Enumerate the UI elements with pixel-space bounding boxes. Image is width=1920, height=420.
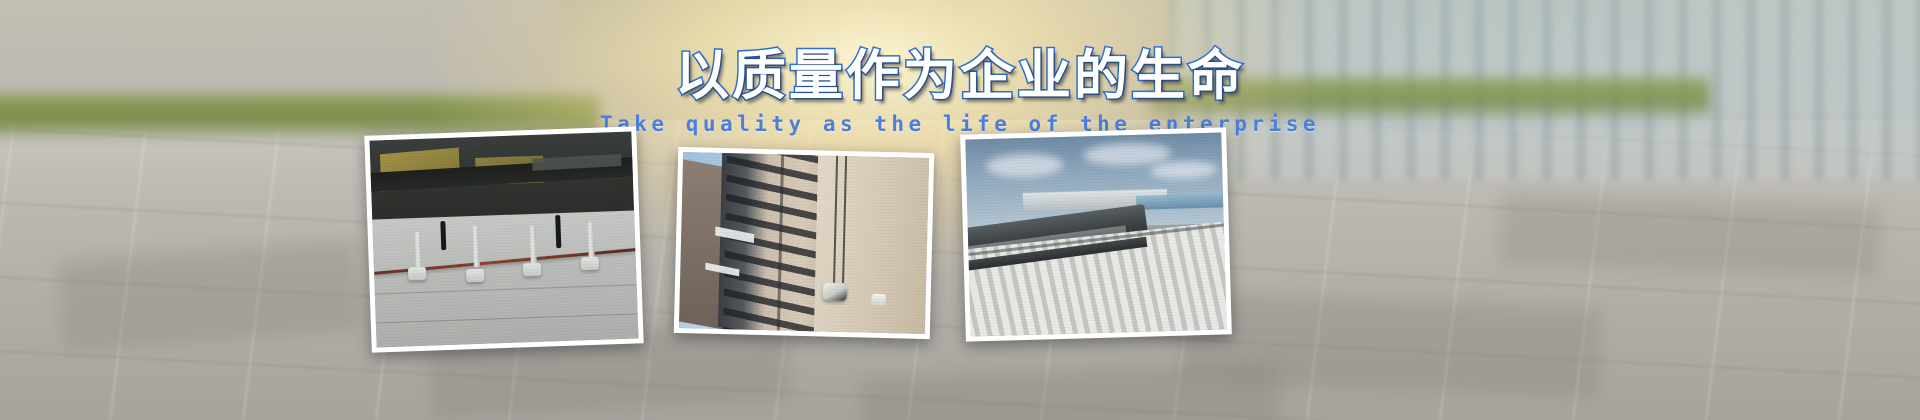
photo1-support-base (466, 269, 484, 283)
photo2-window-rows (723, 152, 826, 334)
photo-metal-roof (965, 132, 1226, 336)
photo-facade-rope-access (679, 152, 929, 334)
photo-roof-deck (369, 131, 638, 347)
photo1-pipe-post (415, 232, 422, 269)
photo2-paint-bucket (871, 294, 885, 306)
photo3-distant-roofs (1136, 194, 1223, 210)
photo1-support-base (408, 267, 426, 281)
project-photo-gallery (0, 0, 1920, 420)
photo2-painted-wall (814, 152, 929, 334)
project-photo-card-1[interactable] (364, 126, 643, 352)
photo1-support-base (581, 257, 599, 271)
project-photo-card-3[interactable] (960, 127, 1232, 341)
hero-banner: 以质量作为企业的生命 Take quality as the life of t… (0, 0, 1920, 420)
project-photo-card-2[interactable] (674, 147, 934, 339)
photo2-worker (822, 282, 846, 301)
photo1-support-base (523, 263, 541, 277)
